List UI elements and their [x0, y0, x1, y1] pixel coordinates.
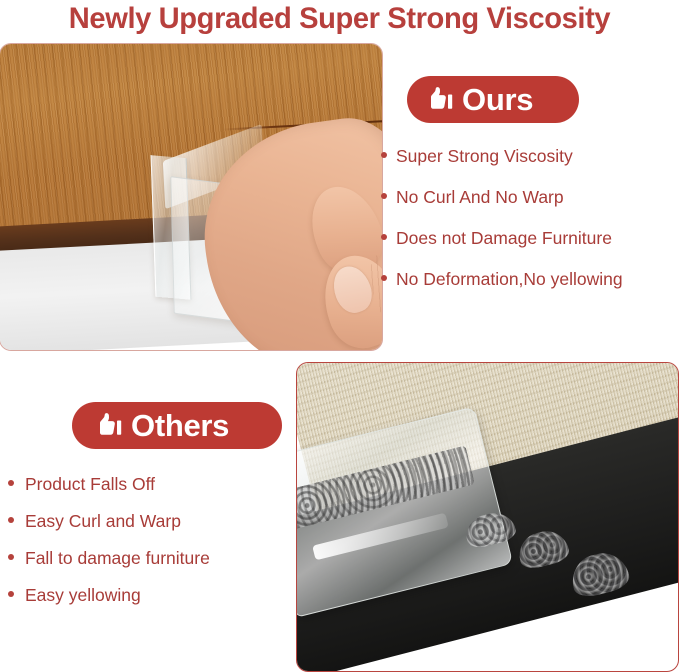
ours-feature-list: Super Strong Viscosity No Curl And No Wa…: [381, 146, 679, 310]
others-drawback-list: Product Falls Off Easy Curl and Warp Fal…: [8, 474, 298, 622]
others-badge-label: Others: [131, 410, 229, 441]
list-item-label: Does not Damage Furniture: [396, 228, 612, 248]
others-badge: Others: [72, 402, 282, 449]
list-item-label: Fall to damage furniture: [25, 548, 210, 568]
bullet-dot-icon: [8, 554, 14, 560]
list-item: Easy yellowing: [8, 585, 298, 605]
list-item-label: No Curl And No Warp: [396, 187, 564, 207]
bullet-dot-icon: [8, 591, 14, 597]
list-item: Does not Damage Furniture: [381, 228, 679, 248]
bullet-dot-icon: [381, 234, 387, 240]
thumbs-up-icon: [423, 86, 453, 114]
ours-photo-scene: [0, 44, 382, 350]
list-item: Fall to damage furniture: [8, 548, 298, 568]
others-photo-scene: [297, 363, 678, 671]
list-item: Easy Curl and Warp: [8, 511, 298, 531]
list-item-label: Easy yellowing: [25, 585, 141, 605]
others-photo: [296, 362, 679, 672]
bullet-dot-icon: [381, 275, 387, 281]
bullet-dot-icon: [8, 480, 14, 486]
list-item-label: Easy Curl and Warp: [25, 511, 181, 531]
ours-badge-label: Ours: [462, 84, 533, 115]
bullet-dot-icon: [381, 193, 387, 199]
list-item-label: No Deformation,No yellowing: [396, 269, 623, 289]
list-item: No Deformation,No yellowing: [381, 269, 679, 289]
list-item-label: Product Falls Off: [25, 474, 155, 494]
thumbs-up-icon: [92, 412, 122, 440]
page-title: Newly Upgraded Super Strong Viscosity: [10, 1, 669, 37]
bullet-dot-icon: [381, 152, 387, 158]
bullet-dot-icon: [8, 517, 14, 523]
list-item: No Curl And No Warp: [381, 187, 679, 207]
list-item: Product Falls Off: [8, 474, 298, 494]
ours-badge: Ours: [407, 76, 579, 123]
list-item: Super Strong Viscosity: [381, 146, 679, 166]
list-item-label: Super Strong Viscosity: [396, 146, 573, 166]
ours-photo: [0, 43, 383, 351]
